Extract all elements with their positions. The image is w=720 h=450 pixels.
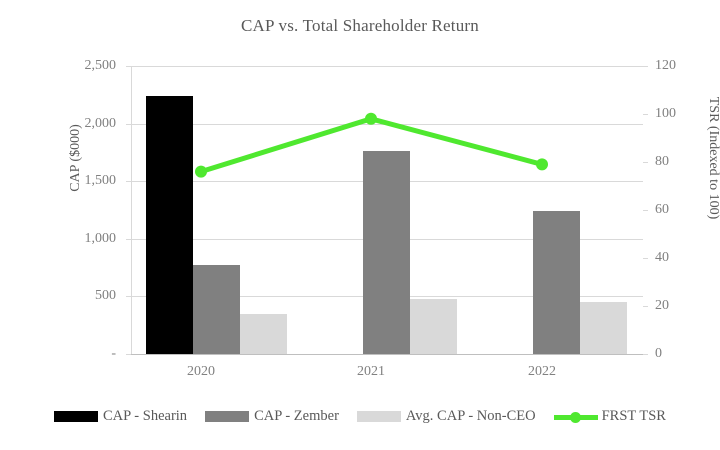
x-axis-line — [131, 354, 643, 355]
y-tick-0 — [126, 354, 131, 355]
y-label-1500: 1,500 — [58, 174, 116, 188]
y2-label-0: 0 — [655, 347, 695, 361]
legend-item-frst-tsr[interactable]: FRST TSR — [554, 408, 666, 425]
tsr-marker-2020 — [195, 166, 207, 178]
legend-item-avg-cap-non-ceo[interactable]: Avg. CAP - Non-CEO — [357, 408, 536, 425]
y2-tick-0 — [643, 354, 648, 355]
y2-tick-60 — [643, 210, 648, 211]
legend-swatch-icon-avg-cap-non-ceo — [357, 411, 401, 422]
y2-tick-40 — [643, 258, 648, 259]
y2-tick-120 — [643, 66, 648, 67]
y-tick-2500 — [126, 66, 131, 67]
y-label-2000: 2,000 — [58, 117, 116, 131]
y-tick-500 — [126, 296, 131, 297]
legend-item-cap-shearin[interactable]: CAP - Shearin — [54, 408, 187, 425]
legend-label-frst-tsr: FRST TSR — [602, 408, 666, 425]
y2-tick-20 — [643, 306, 648, 307]
y-axis-title: CAP ($000) — [68, 78, 84, 238]
legend-item-cap-zember[interactable]: CAP - Zember — [205, 408, 339, 425]
y-tick-2000 — [126, 124, 131, 125]
y2-tick-80 — [643, 162, 648, 163]
legend-swatch-icon-cap-shearin — [54, 411, 98, 422]
legend-label-avg-cap-non-ceo: Avg. CAP - Non-CEO — [406, 408, 536, 425]
y2-label-20: 20 — [655, 299, 695, 313]
y-tick-1000 — [126, 239, 131, 240]
x-label-2021: 2021 — [311, 364, 431, 380]
legend-label-cap-zember: CAP - Zember — [254, 408, 339, 425]
y2-label-100: 100 — [655, 107, 695, 121]
legend-line-marker-icon-frst-tsr — [554, 411, 598, 423]
y-label-1000: 1,000 — [58, 232, 116, 246]
y-label-0: - — [58, 347, 116, 361]
x-label-2020: 2020 — [141, 364, 261, 380]
y-tick-1500 — [126, 181, 131, 182]
y2-label-80: 80 — [655, 155, 695, 169]
chart-container: CAP vs. Total Shareholder Return 2,500 2 — [0, 0, 720, 450]
chart-title: CAP vs. Total Shareholder Return — [0, 16, 720, 36]
y-label-500: 500 — [58, 289, 116, 303]
legend-label-cap-shearin: CAP - Shearin — [103, 408, 187, 425]
y2-axis-title: TSR (Indexed to 100) — [705, 58, 720, 258]
y-label-2500: 2,500 — [58, 59, 116, 73]
tsr-marker-2021 — [365, 113, 377, 125]
tsr-line-series — [131, 66, 643, 354]
y2-label-40: 40 — [655, 251, 695, 265]
legend-swatch-icon-cap-zember — [205, 411, 249, 422]
y2-label-120: 120 — [655, 59, 695, 73]
x-label-2022: 2022 — [482, 364, 602, 380]
tsr-marker-2022 — [536, 158, 548, 170]
tsr-polyline — [201, 119, 542, 172]
y2-label-60: 60 — [655, 203, 695, 217]
y2-tick-100 — [643, 114, 648, 115]
chart-legend: CAP - Shearin CAP - Zember Avg. CAP - No… — [0, 408, 720, 425]
